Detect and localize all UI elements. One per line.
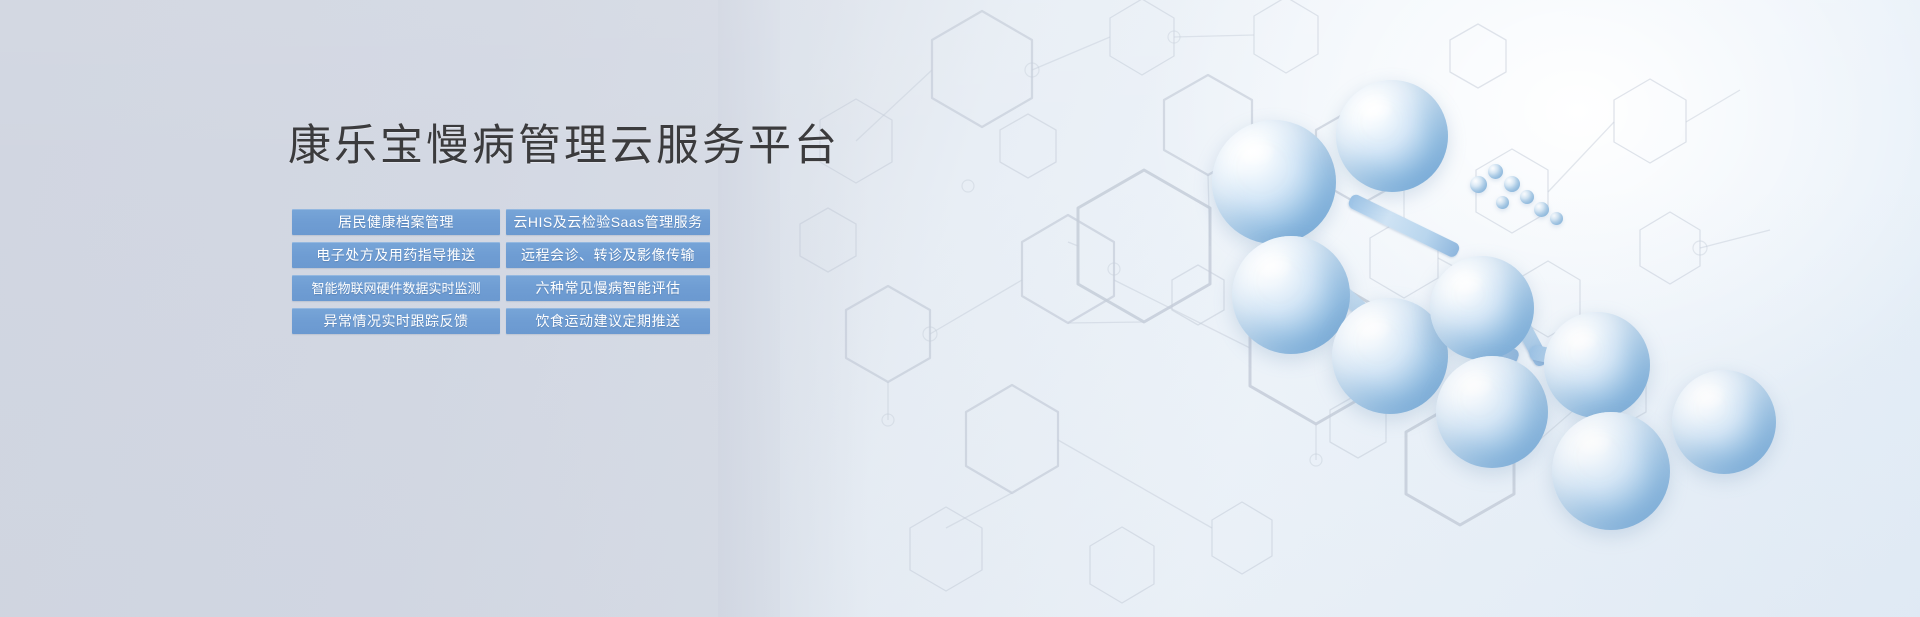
page-title: 康乐宝慢病管理云服务平台	[288, 118, 840, 174]
hexagon-molecule-pattern-icon	[760, 0, 1920, 617]
feature-chip-resident-health-record[interactable]: 居民健康档案管理	[292, 209, 500, 235]
feature-chip-cloud-his-lab-saas[interactable]: 云HIS及云检验Saas管理服务	[506, 209, 710, 235]
feature-chip-abnormal-realtime-tracking-feedback[interactable]: 异常情况实时跟踪反馈	[292, 308, 500, 334]
feature-chip-iot-device-realtime-monitoring[interactable]: 智能物联网硬件数据实时监测	[292, 275, 500, 301]
hero-banner: 康乐宝慢病管理云服务平台 居民健康档案管理 云HIS及云检验Saas管理服务 电…	[0, 0, 1920, 617]
feature-chip-diet-exercise-advice-push[interactable]: 饮食运动建议定期推送	[506, 308, 710, 334]
feature-chip-six-chronic-disease-assessment[interactable]: 六种常见慢病智能评估	[506, 275, 710, 301]
feature-chip-remote-consultation-referral-imaging[interactable]: 远程会诊、转诊及影像传输	[506, 242, 710, 268]
feature-chip-e-prescription-medication-guidance[interactable]: 电子处方及用药指导推送	[292, 242, 500, 268]
feature-list: 居民健康档案管理 云HIS及云检验Saas管理服务 电子处方及用药指导推送 远程…	[292, 209, 710, 334]
small-molecule-cluster-icon	[1470, 150, 1590, 270]
